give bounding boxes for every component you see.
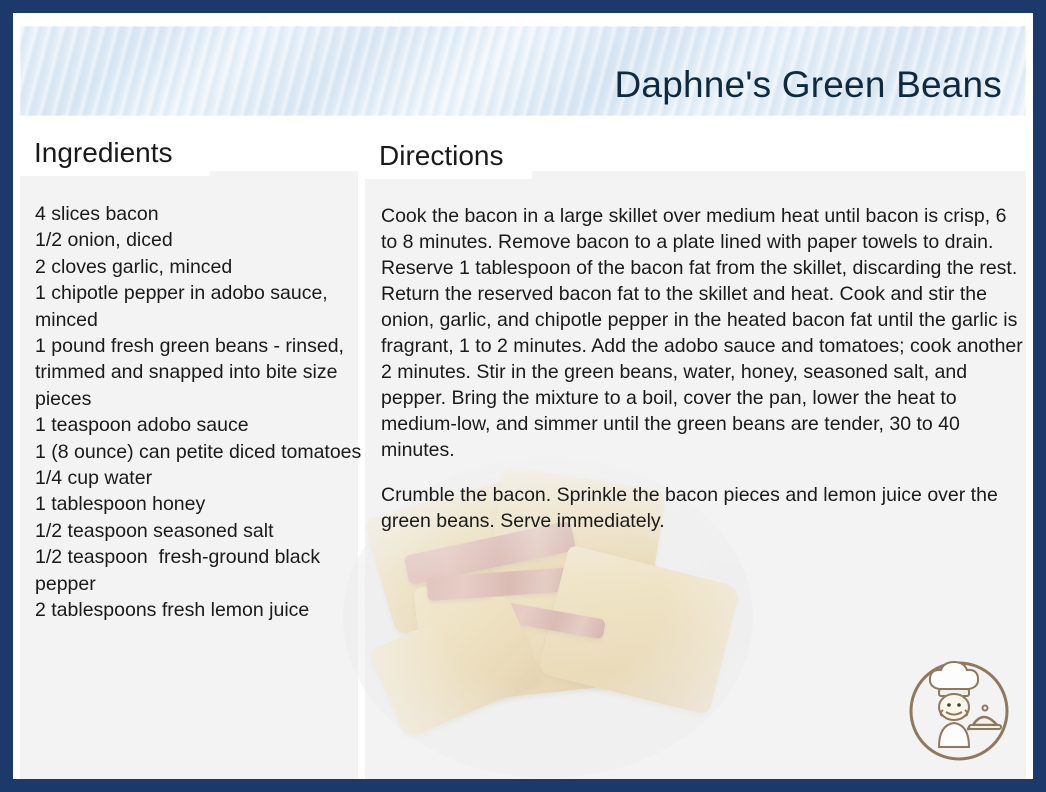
list-item: 1 pound fresh green beans - rinsed, trim… [35, 333, 365, 412]
ingredients-heading: Ingredients [34, 139, 173, 167]
list-item: 1 teaspoon adobo sauce [35, 412, 365, 438]
list-item: 1/4 cup water [35, 465, 365, 491]
list-item: 1 chipotle pepper in adobo sauce, minced [35, 280, 365, 333]
list-item: 1 tablespoon honey [35, 491, 365, 517]
ingredients-list: 4 slices bacon 1/2 onion, diced 2 cloves… [35, 201, 365, 624]
list-item: 2 tablespoons fresh lemon juice [35, 597, 365, 623]
ingredients-heading-tab: Ingredients [20, 130, 210, 176]
directions-paragraph: Crumble the bacon. Sprinkle the bacon pi… [381, 482, 1025, 534]
title-banner: Daphne's Green Beans [20, 26, 1026, 116]
list-item: 1/2 teaspoon seasoned salt [35, 518, 365, 544]
list-item: 1/2 onion, diced [35, 227, 365, 253]
slide-canvas: Daphne's Green Beans Ingredients 4 slice… [13, 13, 1033, 779]
list-item: 1 (8 ounce) can petite diced tomatoes [35, 439, 365, 465]
list-item: 2 cloves garlic, minced [35, 254, 365, 280]
directions-paragraph: Cook the bacon in a large skillet over m… [381, 203, 1025, 463]
list-item: 4 slices bacon [35, 201, 365, 227]
recipe-card-page: Daphne's Green Beans Ingredients 4 slice… [0, 0, 1046, 792]
page-title: Daphne's Green Beans [615, 64, 1002, 106]
list-item: 1/2 teaspoon fresh-ground black pepper [35, 544, 365, 597]
directions-heading: Directions [379, 142, 503, 170]
directions-text: Cook the bacon in a large skillet over m… [381, 203, 1025, 553]
directions-heading-tab: Directions [365, 133, 532, 179]
chef-with-cloche-logo [899, 651, 1019, 769]
